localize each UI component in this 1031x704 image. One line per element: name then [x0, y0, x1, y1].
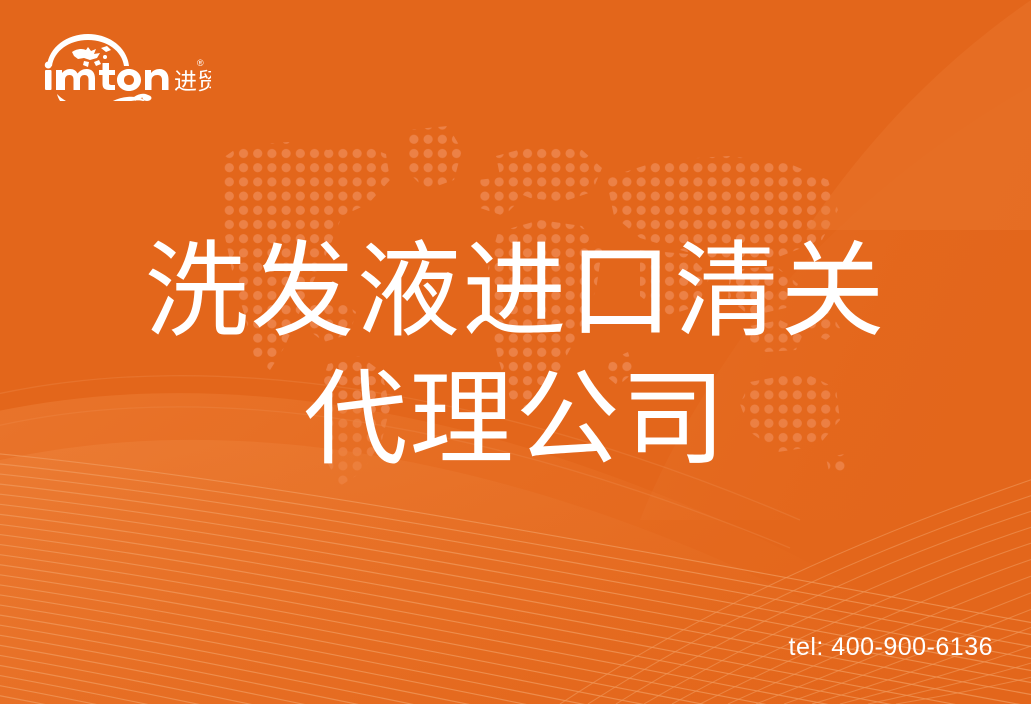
contact-phone[interactable]: tel: 400-900-6136	[789, 633, 993, 662]
headline: 洗发液进口清关 代理公司	[0, 228, 1031, 484]
globe-arc-icon	[47, 34, 129, 67]
headline-line-2: 代理公司	[0, 356, 1031, 484]
registered-trademark-icon: ®	[197, 58, 204, 68]
logo-wordmark	[45, 62, 169, 92]
dragon-swoosh-icon	[57, 94, 152, 101]
promo-banner: 进贸通 ® 洗发液进口清关 代理公司 tel: 400-900-6136	[0, 0, 1031, 704]
brand-logo[interactable]: 进贸通 ®	[36, 27, 211, 101]
headline-line-1: 洗发液进口清关	[0, 228, 1031, 356]
logo-chinese-name: 进贸通	[174, 68, 211, 94]
